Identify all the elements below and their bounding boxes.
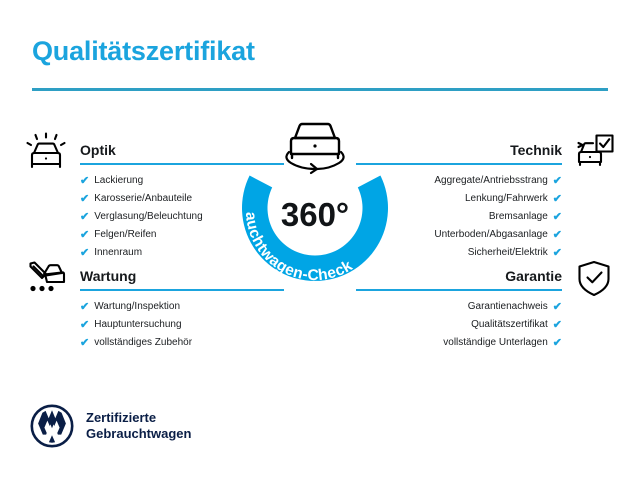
list-item-label: Wartung/Inspektion bbox=[94, 299, 180, 315]
list-item-label: Karosserie/Anbauteile bbox=[94, 191, 192, 207]
check-icon: ✔ bbox=[80, 230, 89, 241]
car-rotation-icon bbox=[275, 114, 355, 176]
list-item-label: Hauptuntersuchung bbox=[94, 317, 181, 333]
check-icon: ✔ bbox=[553, 338, 562, 349]
page-title: Qualitätszertifikat bbox=[32, 36, 255, 67]
vw-logo-line1: Zertifizierte bbox=[86, 410, 191, 426]
check-icon: ✔ bbox=[80, 212, 89, 223]
list-item: ✔Hauptuntersuchung bbox=[80, 317, 284, 333]
shield-check-icon bbox=[570, 256, 618, 302]
check-icon: ✔ bbox=[553, 302, 562, 313]
vw-logo-text: Zertifizierte Gebrauchtwagen bbox=[86, 410, 191, 442]
list-item-label: Lackierung bbox=[94, 173, 143, 189]
check-icon: ✔ bbox=[553, 320, 562, 331]
check-icon: ✔ bbox=[80, 302, 89, 313]
title-divider bbox=[32, 88, 608, 91]
list-item: ✔vollständige Unterlagen bbox=[356, 335, 562, 351]
checklist-wartung: ✔Wartung/Inspektion ✔Hauptuntersuchung ✔… bbox=[80, 299, 284, 351]
gebrauchtwagen-check-badge: Gebrauchtwagen-Check 360° bbox=[224, 120, 406, 302]
check-icon: ✔ bbox=[80, 320, 89, 331]
badge-center-label: 360° bbox=[281, 196, 349, 233]
check-icon: ✔ bbox=[80, 194, 89, 205]
list-item: ✔Qualitätszertifikat bbox=[356, 317, 562, 333]
check-icon: ✔ bbox=[553, 212, 562, 223]
vw-certified-footer: Zertifizierte Gebrauchtwagen bbox=[30, 404, 191, 448]
check-icon: ✔ bbox=[80, 338, 89, 349]
check-icon: ✔ bbox=[80, 176, 89, 187]
list-item-label: vollständiges Zubehör bbox=[94, 335, 192, 351]
list-item-label: Lenkung/Fahrwerk bbox=[465, 191, 548, 207]
vw-logo-line2: Gebrauchtwagen bbox=[86, 426, 191, 442]
list-item-label: Felgen/Reifen bbox=[94, 227, 156, 243]
list-item-label: Aggregate/Antriebsstrang bbox=[434, 173, 547, 189]
car-shine-icon bbox=[22, 130, 70, 176]
car-checkbox-icon bbox=[570, 130, 618, 176]
vw-logo-icon bbox=[30, 404, 74, 448]
list-item-label: Unterboden/Abgasanlage bbox=[434, 227, 547, 243]
check-icon: ✔ bbox=[553, 194, 562, 205]
list-item: ✔vollständiges Zubehör bbox=[80, 335, 284, 351]
list-item-label: vollständige Unterlagen bbox=[443, 335, 548, 351]
list-item-label: Garantienachweis bbox=[468, 299, 548, 315]
list-item-label: Verglasung/Beleuchtung bbox=[94, 209, 202, 225]
check-icon: ✔ bbox=[553, 176, 562, 187]
checklist-garantie: ✔Garantienachweis ✔Qualitätszertifikat ✔… bbox=[356, 299, 562, 351]
check-icon: ✔ bbox=[553, 230, 562, 241]
quality-certificate-page: Qualitätszertifikat Optik bbox=[0, 0, 640, 480]
list-item-label: Qualitätszertifikat bbox=[471, 317, 548, 333]
list-item-label: Bremsanlage bbox=[489, 209, 548, 225]
car-wrench-icon bbox=[22, 256, 70, 302]
